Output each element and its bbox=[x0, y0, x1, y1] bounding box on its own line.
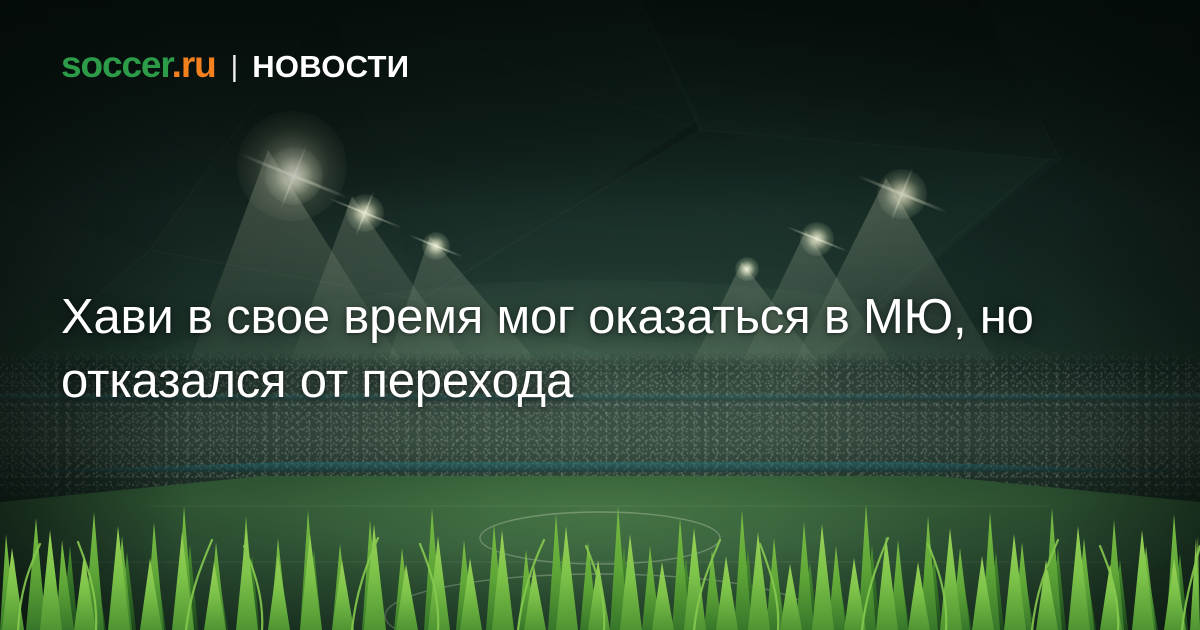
soccer-ru-logo[interactable]: soccer.ru bbox=[61, 46, 216, 83]
logo-word-ru: .ru bbox=[172, 44, 216, 85]
brand-separator: | bbox=[231, 53, 239, 82]
news-share-card: soccer.ru | НОВОСТИ Хави в свое время мо… bbox=[0, 0, 1200, 630]
brand-bar[interactable]: soccer.ru | НОВОСТИ bbox=[61, 46, 409, 83]
logo-word-soccer: soccer bbox=[61, 44, 172, 85]
brand-section-label: НОВОСТИ bbox=[252, 51, 409, 82]
page-title: Хави в свое время мог оказаться в МЮ, но… bbox=[61, 285, 1091, 413]
card-content: soccer.ru | НОВОСТИ Хави в свое время мо… bbox=[0, 0, 1200, 630]
